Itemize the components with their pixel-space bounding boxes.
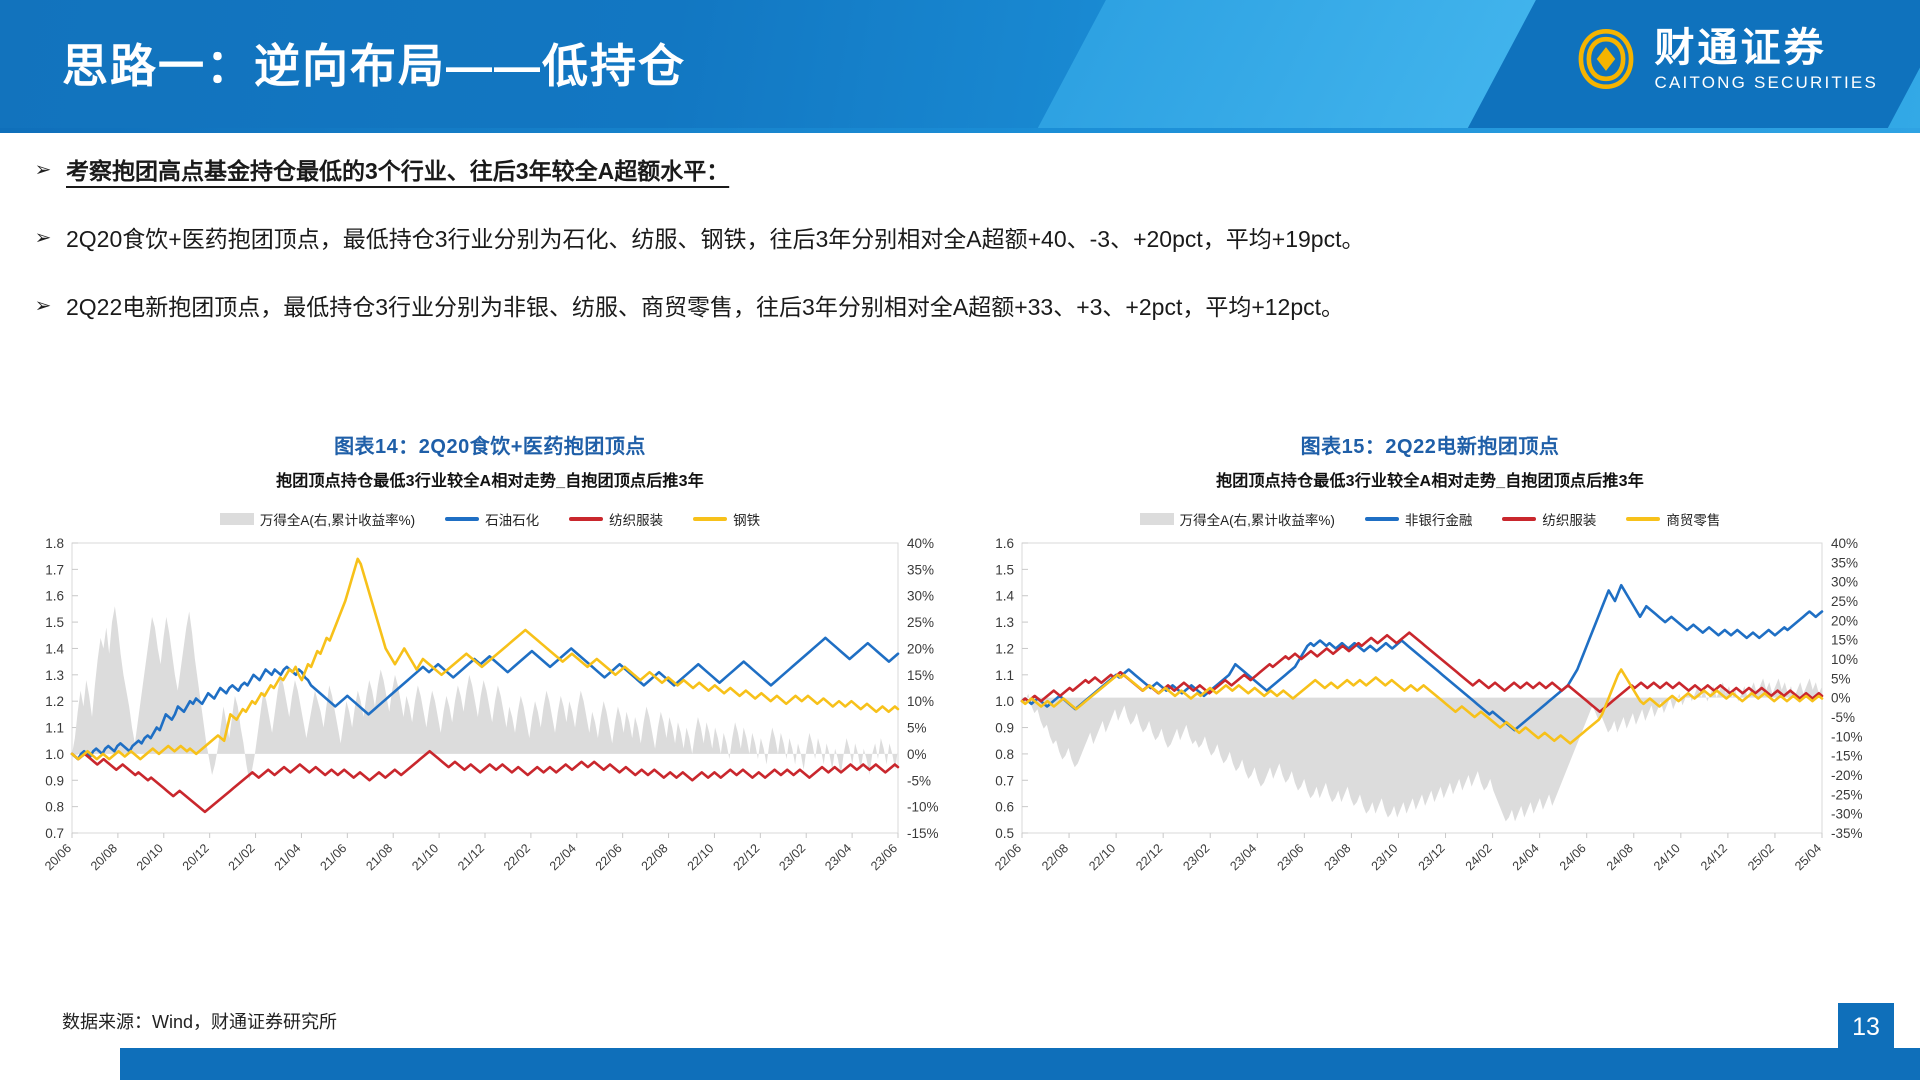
svg-text:22/12: 22/12 xyxy=(1133,841,1165,873)
legend-label: 商贸零售 xyxy=(1666,509,1720,529)
svg-text:20/06: 20/06 xyxy=(42,841,74,873)
svg-text:1.5: 1.5 xyxy=(995,562,1014,577)
page-header: 思路一：逆向布局——低持仓 财通证券 CAITONG SECURITIES xyxy=(0,0,1920,128)
svg-text:20/08: 20/08 xyxy=(88,841,120,873)
svg-text:0.6: 0.6 xyxy=(995,800,1014,815)
svg-text:23/06: 23/06 xyxy=(868,841,900,873)
svg-text:1.8: 1.8 xyxy=(45,536,64,551)
legend-item-wind-all-a: 万得全A(右,累计收益率%) xyxy=(1140,509,1335,529)
brand-logo: 财通证券 CAITONG SECURITIES xyxy=(1573,26,1878,92)
svg-text:1.7: 1.7 xyxy=(45,562,64,577)
svg-text:22/10: 22/10 xyxy=(685,841,717,873)
svg-text:0.9: 0.9 xyxy=(995,721,1014,736)
legend-swatch-line-icon xyxy=(693,517,727,521)
svg-text:23/10: 23/10 xyxy=(1369,841,1401,873)
legend-item-series-red: 纺织服装 xyxy=(569,509,663,529)
logo-english-name: CAITONG SECURITIES xyxy=(1655,74,1878,91)
svg-text:1.3: 1.3 xyxy=(45,668,64,683)
bullet-text-2: 2Q20食饮+医药抱团顶点，最低持仓3行业分别为石化、纺服、钢铁，往后3年分别相… xyxy=(66,223,1364,255)
svg-text:1.6: 1.6 xyxy=(995,536,1014,551)
caitong-logo-icon xyxy=(1573,26,1639,92)
svg-text:24/12: 24/12 xyxy=(1698,841,1730,873)
legend-swatch-line-icon xyxy=(445,517,479,521)
legend-item-series-yellow: 钢铁 xyxy=(693,509,760,529)
svg-text:23/04: 23/04 xyxy=(1227,841,1259,873)
svg-text:23/08: 23/08 xyxy=(1322,841,1354,873)
figure-14-subtitle: 抱团顶点持仓最低3行业较全A相对走势_自抱团顶点后推3年 xyxy=(20,467,960,491)
svg-text:0.9: 0.9 xyxy=(45,773,64,788)
svg-text:0%: 0% xyxy=(907,747,927,762)
legend-swatch-line-icon xyxy=(569,517,603,521)
bullet-arrow-icon: ➢ xyxy=(20,223,66,253)
figure-15-title: 图表15：2Q22电新抱团顶点 xyxy=(960,430,1900,459)
footer-bar xyxy=(0,1048,1920,1080)
svg-text:20%: 20% xyxy=(907,641,934,656)
svg-text:-15%: -15% xyxy=(1831,749,1863,764)
legend-label: 纺织服装 xyxy=(1542,509,1596,529)
svg-text:25%: 25% xyxy=(907,615,934,630)
svg-text:1.5: 1.5 xyxy=(45,615,64,630)
svg-text:20/12: 20/12 xyxy=(180,841,212,873)
svg-text:22/06: 22/06 xyxy=(992,841,1024,873)
svg-text:24/04: 24/04 xyxy=(1510,841,1542,873)
bullet-item-3: ➢ 2Q22电新抱团顶点，最低持仓3行业分别为非银、纺服、商贸零售，往后3年分别… xyxy=(0,291,1920,323)
svg-text:1.6: 1.6 xyxy=(45,589,64,604)
svg-text:40%: 40% xyxy=(907,536,934,551)
figure-14-legend: 万得全A(右,累计收益率%) 石油石化 纺织服装 钢铁 xyxy=(20,509,960,529)
svg-text:1.1: 1.1 xyxy=(995,668,1014,683)
svg-text:25%: 25% xyxy=(1831,594,1858,609)
svg-text:21/06: 21/06 xyxy=(317,841,349,873)
legend-label: 石油石化 xyxy=(485,509,539,529)
legend-item-series-yellow: 商贸零售 xyxy=(1626,509,1720,529)
legend-item-series-blue: 非银行金融 xyxy=(1365,509,1473,529)
bullet-arrow-icon: ➢ xyxy=(20,155,66,185)
svg-text:40%: 40% xyxy=(1831,536,1858,551)
legend-swatch-area-icon xyxy=(1140,513,1174,525)
figure-15-plot: 1.61.51.41.31.21.11.00.90.80.70.60.540%3… xyxy=(960,535,1900,925)
svg-text:21/04: 21/04 xyxy=(272,841,304,873)
svg-text:22/06: 22/06 xyxy=(593,841,625,873)
svg-text:24/10: 24/10 xyxy=(1651,841,1683,873)
svg-text:23/12: 23/12 xyxy=(1416,841,1448,873)
legend-item-series-red: 纺织服装 xyxy=(1502,509,1596,529)
svg-text:23/02: 23/02 xyxy=(776,841,808,873)
svg-text:-35%: -35% xyxy=(1831,826,1863,841)
svg-text:-30%: -30% xyxy=(1831,807,1863,822)
svg-text:1.2: 1.2 xyxy=(995,641,1014,656)
svg-text:-20%: -20% xyxy=(1831,768,1863,783)
bullet-item-1: ➢ 考察抱团高点基金持仓最低的3个行业、往后3年较全A超额水平： xyxy=(0,155,1920,187)
svg-text:1.4: 1.4 xyxy=(995,589,1014,604)
figure-14-plot: 1.81.71.61.51.41.31.21.11.00.90.80.740%3… xyxy=(20,535,960,925)
svg-text:1.0: 1.0 xyxy=(45,747,64,762)
legend-label: 万得全A(右,累计收益率%) xyxy=(1180,509,1335,529)
svg-text:20/10: 20/10 xyxy=(134,841,166,873)
bullet-text-1: 考察抱团高点基金持仓最低的3个行业、往后3年较全A超额水平： xyxy=(66,155,729,187)
svg-text:23/02: 23/02 xyxy=(1180,841,1212,873)
figure-15-subtitle: 抱团顶点持仓最低3行业较全A相对走势_自抱团顶点后推3年 xyxy=(960,467,1900,491)
figure-15-legend: 万得全A(右,累计收益率%) 非银行金融 纺织服装 商贸零售 xyxy=(960,509,1900,529)
svg-text:-5%: -5% xyxy=(1831,710,1855,725)
svg-text:30%: 30% xyxy=(907,589,934,604)
svg-text:1.2: 1.2 xyxy=(45,694,64,709)
legend-item-series-blue: 石油石化 xyxy=(445,509,539,529)
svg-text:22/08: 22/08 xyxy=(1039,841,1071,873)
svg-text:35%: 35% xyxy=(907,562,934,577)
svg-text:5%: 5% xyxy=(907,721,927,736)
svg-text:-10%: -10% xyxy=(907,800,939,815)
svg-text:15%: 15% xyxy=(1831,633,1858,648)
svg-text:23/06: 23/06 xyxy=(1274,841,1306,873)
svg-text:1.0: 1.0 xyxy=(995,694,1014,709)
svg-text:5%: 5% xyxy=(1831,671,1851,686)
header-divider xyxy=(0,128,1920,133)
legend-label: 纺织服装 xyxy=(609,509,663,529)
svg-text:-15%: -15% xyxy=(907,826,939,841)
svg-text:24/02: 24/02 xyxy=(1463,841,1495,873)
legend-swatch-area-icon xyxy=(220,513,254,525)
figure-14-canvas: 1.81.71.61.51.41.31.21.11.00.90.80.740%3… xyxy=(20,535,960,925)
svg-text:25/02: 25/02 xyxy=(1745,841,1777,873)
svg-text:20%: 20% xyxy=(1831,613,1858,628)
svg-text:35%: 35% xyxy=(1831,555,1858,570)
svg-text:22/10: 22/10 xyxy=(1086,841,1118,873)
svg-text:22/12: 22/12 xyxy=(730,841,762,873)
svg-text:30%: 30% xyxy=(1831,575,1858,590)
legend-swatch-line-icon xyxy=(1502,517,1536,521)
svg-text:0.7: 0.7 xyxy=(995,773,1014,788)
bullet-arrow-icon: ➢ xyxy=(20,291,66,321)
svg-text:22/02: 22/02 xyxy=(501,841,533,873)
svg-text:-5%: -5% xyxy=(907,773,931,788)
legend-label: 万得全A(右,累计收益率%) xyxy=(260,509,415,529)
page-number-badge: 13 xyxy=(1838,1003,1894,1051)
svg-text:22/04: 22/04 xyxy=(547,841,579,873)
legend-item-wind-all-a: 万得全A(右,累计收益率%) xyxy=(220,509,415,529)
svg-text:21/02: 21/02 xyxy=(226,841,258,873)
legend-label: 钢铁 xyxy=(733,509,760,529)
svg-text:0%: 0% xyxy=(1831,691,1851,706)
svg-text:1.4: 1.4 xyxy=(45,641,64,656)
svg-text:23/04: 23/04 xyxy=(822,841,854,873)
figure-15: 图表15：2Q22电新抱团顶点 抱团顶点持仓最低3行业较全A相对走势_自抱团顶点… xyxy=(960,430,1900,925)
source-note: 数据来源：Wind，财通证券研究所 xyxy=(62,1008,337,1034)
svg-text:0.5: 0.5 xyxy=(995,826,1014,841)
svg-text:21/08: 21/08 xyxy=(363,841,395,873)
svg-text:24/06: 24/06 xyxy=(1557,841,1589,873)
svg-text:0.7: 0.7 xyxy=(45,826,64,841)
svg-text:10%: 10% xyxy=(907,694,934,709)
bullet-text-3: 2Q22电新抱团顶点，最低持仓3行业分别为非银、纺服、商贸零售，往后3年分别相对… xyxy=(66,291,1344,323)
page-title: 思路一：逆向布局——低持仓 xyxy=(62,30,686,96)
legend-label: 非银行金融 xyxy=(1405,509,1473,529)
svg-text:24/08: 24/08 xyxy=(1604,841,1636,873)
logo-chinese-name: 财通证券 xyxy=(1655,28,1878,68)
svg-text:22/08: 22/08 xyxy=(639,841,671,873)
svg-text:25/04: 25/04 xyxy=(1792,841,1824,873)
svg-text:15%: 15% xyxy=(907,668,934,683)
bullet-list: ➢ 考察抱团高点基金持仓最低的3个行业、往后3年较全A超额水平： ➢ 2Q20食… xyxy=(0,155,1920,360)
svg-text:1.1: 1.1 xyxy=(45,721,64,736)
legend-swatch-line-icon xyxy=(1365,517,1399,521)
svg-text:0.8: 0.8 xyxy=(45,800,64,815)
svg-text:1.3: 1.3 xyxy=(995,615,1014,630)
svg-text:21/12: 21/12 xyxy=(455,841,487,873)
footer-notch xyxy=(0,1048,120,1080)
legend-swatch-line-icon xyxy=(1626,517,1660,521)
svg-text:0.8: 0.8 xyxy=(995,747,1014,762)
svg-text:21/10: 21/10 xyxy=(409,841,441,873)
figure-14-title: 图表14：2Q20食饮+医药抱团顶点 xyxy=(20,430,960,459)
svg-text:-10%: -10% xyxy=(1831,729,1863,744)
svg-text:10%: 10% xyxy=(1831,652,1858,667)
figure-14: 图表14：2Q20食饮+医药抱团顶点 抱团顶点持仓最低3行业较全A相对走势_自抱… xyxy=(20,430,960,925)
figure-15-canvas: 1.61.51.41.31.21.11.00.90.80.70.60.540%3… xyxy=(960,535,1900,925)
svg-text:-25%: -25% xyxy=(1831,787,1863,802)
bullet-item-2: ➢ 2Q20食饮+医药抱团顶点，最低持仓3行业分别为石化、纺服、钢铁，往后3年分… xyxy=(0,223,1920,255)
